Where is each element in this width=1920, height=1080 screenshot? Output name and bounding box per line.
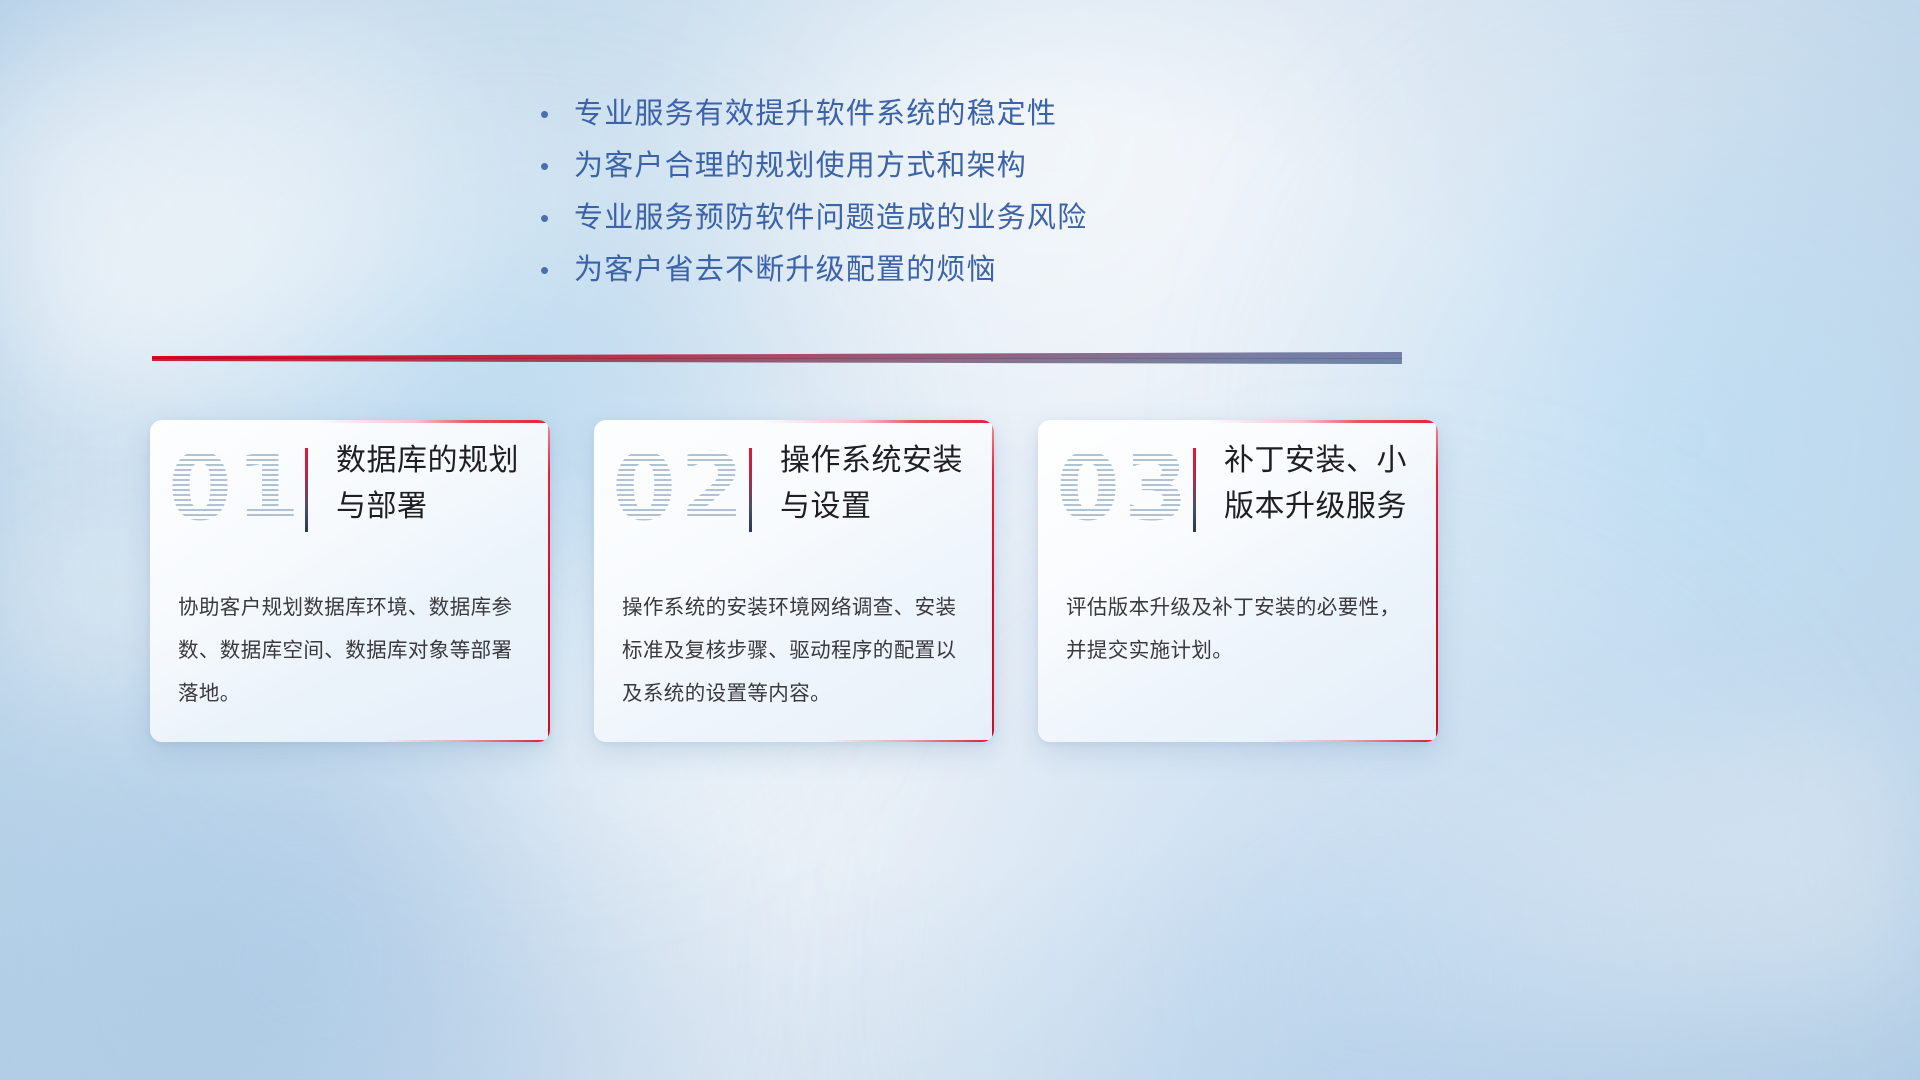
section-divider [152, 352, 1402, 366]
bullet-dot-icon: • [540, 244, 574, 296]
bullet-dot-icon: • [540, 140, 574, 192]
bullet-text: 专业服务有效提升软件系统的稳定性 [574, 88, 1057, 140]
list-item: • 为客户合理的规划使用方式和架构 [540, 140, 1440, 192]
card-description: 评估版本升级及补丁安装的必要性，并提交实施计划。 [1066, 586, 1414, 672]
service-card-01[interactable]: 01 数据库的规划与部署 协助客户规划数据库环境、数据库参数、数据库空间、数据库… [150, 420, 550, 742]
card-edge-bottom-accent [382, 740, 550, 743]
card-title: 操作系统安装与设置 [780, 438, 978, 530]
card-watermark-number: 02 [612, 434, 748, 541]
card-title: 补丁安装、小版本升级服务 [1224, 438, 1422, 530]
bullet-text: 为客户合理的规划使用方式和架构 [574, 140, 1027, 192]
card-watermark-number: 01 [168, 434, 304, 541]
card-title-rule [749, 448, 752, 532]
card-description: 协助客户规划数据库环境、数据库参数、数据库空间、数据库对象等部署落地。 [178, 586, 526, 715]
card-header: 03 补丁安装、小版本升级服务 [1038, 420, 1438, 570]
card-title-rule [305, 448, 308, 532]
card-watermark-number: 03 [1056, 434, 1192, 541]
list-item: • 专业服务预防软件问题造成的业务风险 [540, 192, 1440, 244]
bullet-text: 专业服务预防软件问题造成的业务风险 [574, 192, 1087, 244]
bullet-text: 为客户省去不断升级配置的烦恼 [574, 244, 997, 296]
divider-stripe-bottom [152, 358, 1402, 365]
bullet-dot-icon: • [540, 88, 574, 140]
service-card-02[interactable]: 02 操作系统安装与设置 操作系统的安装环境网络调查、安装标准及复核步骤、驱动程… [594, 420, 994, 742]
benefits-bullet-list: • 专业服务有效提升软件系统的稳定性 • 为客户合理的规划使用方式和架构 • 专… [540, 88, 1440, 296]
card-title: 数据库的规划与部署 [336, 438, 534, 530]
bullet-dot-icon: • [540, 192, 574, 244]
divider-stripe-top [152, 352, 1402, 359]
card-header: 01 数据库的规划与部署 [150, 420, 550, 570]
card-edge-bottom-accent [826, 740, 994, 743]
service-card-list: 01 数据库的规划与部署 协助客户规划数据库环境、数据库参数、数据库空间、数据库… [150, 420, 1438, 742]
list-item: • 专业服务有效提升软件系统的稳定性 [540, 88, 1440, 140]
card-title-rule [1193, 448, 1196, 532]
card-edge-bottom-accent [1270, 740, 1438, 743]
card-description: 操作系统的安装环境网络调查、安装标准及复核步骤、驱动程序的配置以及系统的设置等内… [622, 586, 970, 715]
card-header: 02 操作系统安装与设置 [594, 420, 994, 570]
list-item: • 为客户省去不断升级配置的烦恼 [540, 244, 1440, 296]
service-card-03[interactable]: 03 补丁安装、小版本升级服务 评估版本升级及补丁安装的必要性，并提交实施计划。 [1038, 420, 1438, 742]
